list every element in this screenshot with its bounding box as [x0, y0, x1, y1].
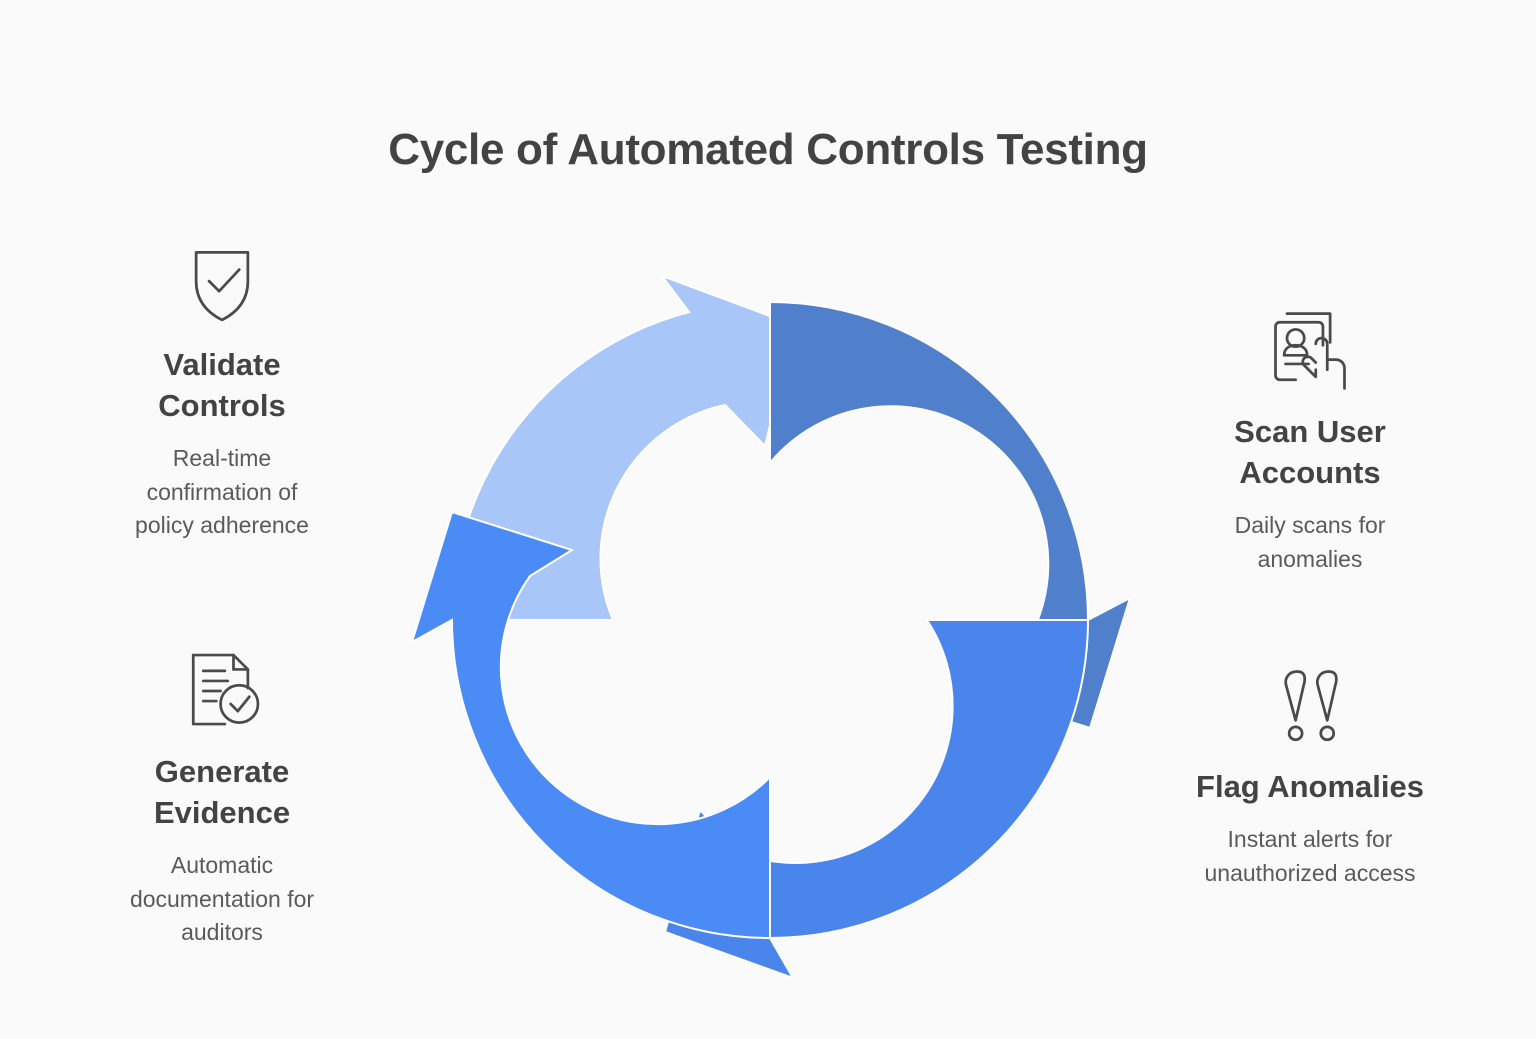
- card-generate-evidence: Generate Evidence Automatic documentatio…: [72, 645, 372, 949]
- card-title: Generate Evidence: [154, 751, 290, 833]
- card-title: Validate Controls: [158, 344, 285, 426]
- card-description: Instant alerts for unauthorized access: [1205, 823, 1416, 890]
- card-description: Real-time confirmation of policy adheren…: [135, 442, 309, 542]
- card-scan-user-accounts: Scan User Accounts Daily scans for anoma…: [1160, 305, 1460, 576]
- card-title: Scan User Accounts: [1234, 411, 1386, 493]
- document-check-icon: [176, 645, 268, 737]
- cycle-ring: [400, 250, 1140, 990]
- shield-check-icon: [176, 238, 268, 330]
- card-description: Automatic documentation for auditors: [130, 849, 314, 949]
- card-description: Daily scans for anomalies: [1235, 509, 1386, 576]
- page-title: Cycle of Automated Controls Testing: [0, 125, 1536, 176]
- card-title: Flag Anomalies: [1196, 766, 1424, 807]
- card-flag-anomalies: Flag Anomalies Instant alerts for unauth…: [1145, 660, 1475, 890]
- id-card-hand-icon: [1264, 305, 1356, 397]
- infographic-page: Cycle of Automated Controls Testing: [0, 0, 1536, 1039]
- cycle-diagram: [400, 250, 1140, 990]
- double-exclamation-icon: [1264, 660, 1356, 752]
- card-validate-controls: Validate Controls Real-time confirmation…: [72, 238, 372, 542]
